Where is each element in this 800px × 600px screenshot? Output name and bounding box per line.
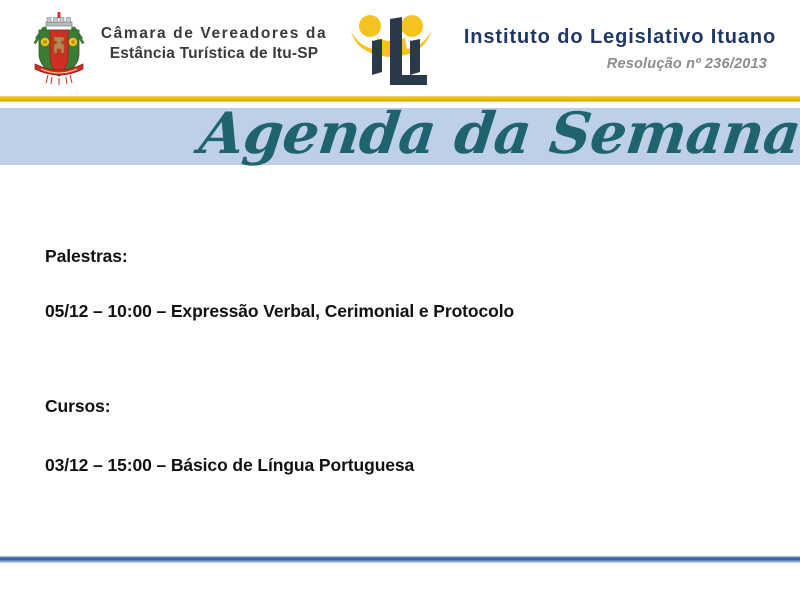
- section-heading-palestras: Palestras:: [45, 246, 755, 267]
- instituto-title: Instituto do Legislativo Ituano: [455, 26, 785, 49]
- agenda-banner: Agenda da Semana: [0, 108, 800, 165]
- banner-title: Agenda da Semana: [195, 92, 800, 176]
- ili-logo-icon: [347, 7, 435, 95]
- itu-coat-of-arms-icon: [28, 12, 90, 88]
- camara-title-line1: Câmara de Vereadores da: [96, 24, 332, 44]
- footer-divider-rule: [0, 556, 800, 563]
- page-header: Câmara de Vereadores da Estância Turísti…: [0, 0, 800, 97]
- camara-title: Câmara de Vereadores da Estância Turísti…: [96, 24, 332, 64]
- camara-title-line2: Estância Turística de Itu-SP: [96, 44, 332, 64]
- list-item: 05/12 – 10:00 – Expressão Verbal, Cerimo…: [45, 301, 755, 322]
- resolucao-subtitle: Resolução nº 236/2013: [455, 56, 785, 72]
- list-item: 03/12 – 15:00 – Básico de Língua Portugu…: [45, 455, 755, 476]
- section-heading-cursos: Cursos:: [45, 396, 755, 417]
- agenda-content: Palestras: 05/12 – 10:00 – Expressão Ver…: [45, 246, 755, 476]
- instituto-block: Instituto do Legislativo Ituano Resoluçã…: [455, 26, 785, 72]
